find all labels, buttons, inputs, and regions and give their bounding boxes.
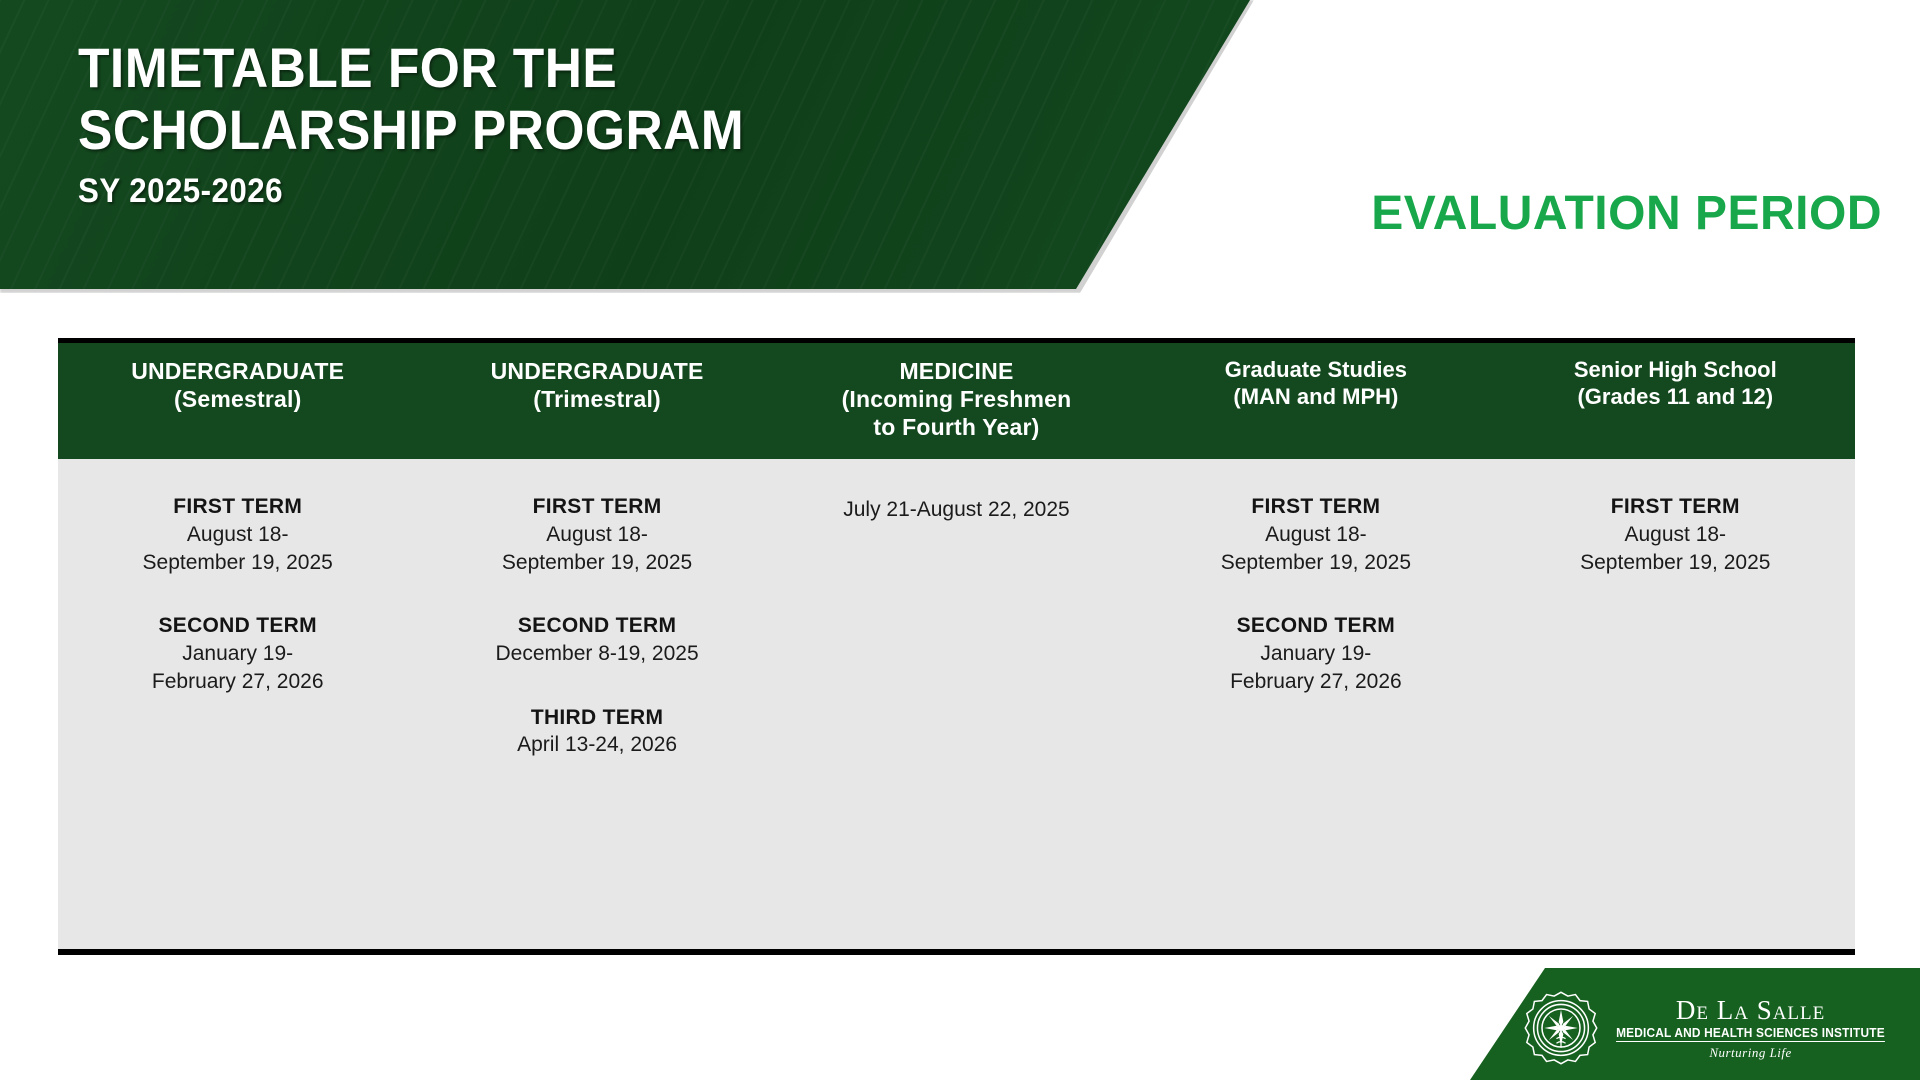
evaluation-period-label: EVALUATION PERIOD bbox=[1371, 186, 1882, 241]
cell-medicine: July 21-August 22, 2025 bbox=[777, 459, 1136, 952]
column-header-undergraduate-trimestral: UNDERGRADUATE (Trimestral) bbox=[417, 341, 776, 460]
column-header-line-2: (Trimestral) bbox=[425, 385, 768, 413]
column-header-line-1: MEDICINE bbox=[785, 357, 1128, 385]
term-block: FIRST TERM August 18- September 19, 2025 bbox=[417, 493, 776, 576]
cell-graduate-studies: FIRST TERM August 18- September 19, 2025… bbox=[1136, 459, 1495, 952]
term-dates-line-2: September 19, 2025 bbox=[417, 549, 776, 577]
column-header-line-1: UNDERGRADUATE bbox=[425, 357, 768, 385]
term-dates-line-2: September 19, 2025 bbox=[1496, 549, 1855, 577]
title-line-2: SCHOLARSHIP PROGRAM bbox=[78, 102, 744, 158]
term-dates-line-1: January 19- bbox=[58, 640, 417, 668]
institution-logo: De La Salle MEDICAL AND HEALTH SCIENCES … bbox=[1523, 990, 1892, 1066]
term-title: FIRST TERM bbox=[1496, 493, 1855, 521]
term-dates-line-1: December 8-19, 2025 bbox=[417, 640, 776, 668]
cell-undergraduate-semestral: FIRST TERM August 18- September 19, 2025… bbox=[58, 459, 417, 952]
column-header-line-3: to Fourth Year) bbox=[785, 413, 1128, 441]
term-title: FIRST TERM bbox=[417, 493, 776, 521]
term-block: SECOND TERM January 19- February 27, 202… bbox=[1136, 612, 1495, 695]
term-dates-line-1: April 13-24, 2026 bbox=[417, 731, 776, 759]
term-dates-line-1: July 21-August 22, 2025 bbox=[777, 493, 1136, 524]
term-block: SECOND TERM January 19- February 27, 202… bbox=[58, 612, 417, 695]
term-block: July 21-August 22, 2025 bbox=[777, 493, 1136, 524]
school-year-label: SY 2025-2026 bbox=[78, 174, 744, 208]
column-header-graduate-studies: Graduate Studies (MAN and MPH) bbox=[1136, 341, 1495, 460]
column-header-line-2: (Incoming Freshmen bbox=[785, 385, 1128, 413]
term-dates-line-2: September 19, 2025 bbox=[1136, 549, 1495, 577]
school-seal-icon bbox=[1523, 990, 1599, 1066]
term-dates-line-1: August 18- bbox=[1496, 521, 1855, 549]
table-header-row: UNDERGRADUATE (Semestral) UNDERGRADUATE … bbox=[58, 341, 1855, 460]
term-dates-line-1: August 18- bbox=[1136, 521, 1495, 549]
term-block: FIRST TERM August 18- September 19, 2025 bbox=[58, 493, 417, 576]
column-header-line-2: (Grades 11 and 12) bbox=[1504, 384, 1847, 411]
page-title: TIMETABLE FOR THE SCHOLARSHIP PROGRAM SY… bbox=[78, 40, 802, 208]
term-title: THIRD TERM bbox=[417, 704, 776, 732]
term-title: SECOND TERM bbox=[58, 612, 417, 640]
column-header-line-2: (MAN and MPH) bbox=[1144, 384, 1487, 411]
cell-undergraduate-trimestral: FIRST TERM August 18- September 19, 2025… bbox=[417, 459, 776, 952]
cell-senior-high-school: FIRST TERM August 18- September 19, 2025 bbox=[1496, 459, 1855, 952]
column-header-line-2: (Semestral) bbox=[66, 385, 409, 413]
term-dates-line-1: August 18- bbox=[58, 521, 417, 549]
term-block: SECOND TERM December 8-19, 2025 bbox=[417, 612, 776, 667]
term-dates-line-1: January 19- bbox=[1136, 640, 1495, 668]
logo-institution-tagline: MEDICAL AND HEALTH SCIENCES INSTITUTE bbox=[1616, 1027, 1885, 1043]
column-header-medicine: MEDICINE (Incoming Freshmen to Fourth Ye… bbox=[777, 341, 1136, 460]
term-title: SECOND TERM bbox=[417, 612, 776, 640]
column-header-line-1: Graduate Studies bbox=[1144, 357, 1487, 384]
table-header: UNDERGRADUATE (Semestral) UNDERGRADUATE … bbox=[58, 341, 1855, 460]
logo-motto: Nurturing Life bbox=[1709, 1046, 1792, 1059]
term-block: THIRD TERM April 13-24, 2026 bbox=[417, 704, 776, 759]
scholarship-timetable: UNDERGRADUATE (Semestral) UNDERGRADUATE … bbox=[58, 338, 1855, 955]
term-dates-line-2: February 27, 2026 bbox=[1136, 668, 1495, 696]
table-body: FIRST TERM August 18- September 19, 2025… bbox=[58, 459, 1855, 952]
column-header-senior-high-school: Senior High School (Grades 11 and 12) bbox=[1496, 341, 1855, 460]
logo-institution-name: De La Salle bbox=[1676, 997, 1825, 1024]
title-line-1: TIMETABLE FOR THE bbox=[78, 40, 744, 96]
term-dates-line-1: August 18- bbox=[417, 521, 776, 549]
term-title: SECOND TERM bbox=[1136, 612, 1495, 640]
term-dates-line-2: September 19, 2025 bbox=[58, 549, 417, 577]
column-header-line-1: Senior High School bbox=[1504, 357, 1847, 384]
column-header-line-1: UNDERGRADUATE bbox=[66, 357, 409, 385]
table-row: FIRST TERM August 18- September 19, 2025… bbox=[58, 459, 1855, 952]
term-dates-line-2: February 27, 2026 bbox=[58, 668, 417, 696]
term-title: FIRST TERM bbox=[58, 493, 417, 521]
term-title: FIRST TERM bbox=[1136, 493, 1495, 521]
column-header-undergraduate-semestral: UNDERGRADUATE (Semestral) bbox=[58, 341, 417, 460]
term-block: FIRST TERM August 18- September 19, 2025 bbox=[1136, 493, 1495, 576]
term-block: FIRST TERM August 18- September 19, 2025 bbox=[1496, 493, 1855, 576]
